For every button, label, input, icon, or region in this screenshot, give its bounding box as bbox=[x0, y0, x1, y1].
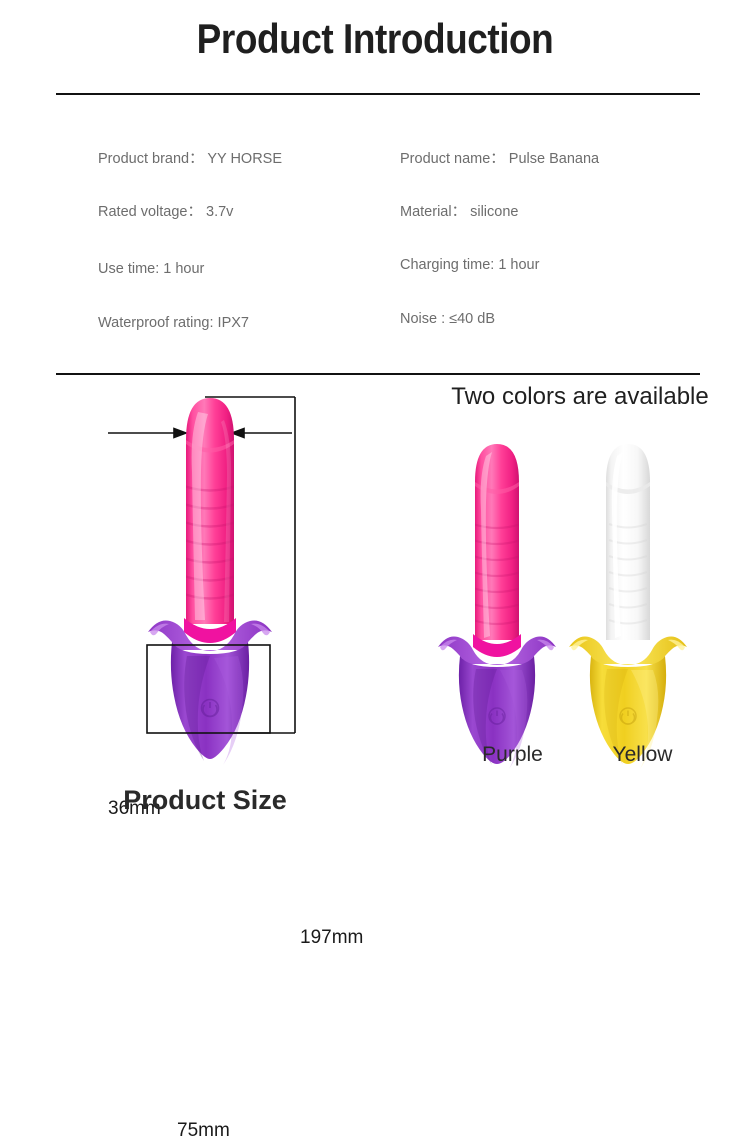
spec-row: Product name： Pulse Banana bbox=[400, 152, 599, 167]
spec-row: Noise : ≤40 dB bbox=[400, 312, 495, 327]
product-size-caption: Product Size bbox=[0, 785, 410, 816]
color-variants-panel: Two colors are available bbox=[410, 380, 750, 854]
spec-row: Waterproof rating: IPX7 bbox=[98, 316, 249, 331]
spec-row: Use time: 1 hour bbox=[98, 262, 204, 277]
spec-row: Material： silicone bbox=[400, 205, 518, 220]
spec-row: Product brand： YY HORSE bbox=[98, 152, 282, 167]
variant-yellow bbox=[569, 444, 687, 769]
spec-row: Rated voltage： 3.7v bbox=[98, 205, 233, 220]
variant-purple bbox=[438, 444, 556, 769]
base-dimension-label: 75mm bbox=[177, 1120, 230, 1142]
color-variants-heading: Two colors are available bbox=[410, 383, 750, 411]
height-dimension-label: 197mm bbox=[300, 927, 363, 949]
product-size-panel: 36mm 197mm 75mm Product Size bbox=[0, 380, 410, 854]
variant-label-yellow: Yellow bbox=[560, 743, 725, 767]
product-introduction-page: Product Introduction Product brand： YY H… bbox=[0, 0, 750, 854]
color-variants-illustration bbox=[410, 420, 750, 750]
spec-table: Product brand： YY HORSE Rated voltage： 3… bbox=[0, 130, 750, 360]
divider-middle bbox=[56, 373, 700, 375]
product-size-illustration bbox=[0, 380, 410, 780]
spec-row: Charging time: 1 hour bbox=[400, 258, 539, 273]
product-shaft bbox=[184, 398, 236, 624]
divider-top bbox=[56, 93, 700, 95]
page-title: Product Introduction bbox=[45, 16, 705, 62]
